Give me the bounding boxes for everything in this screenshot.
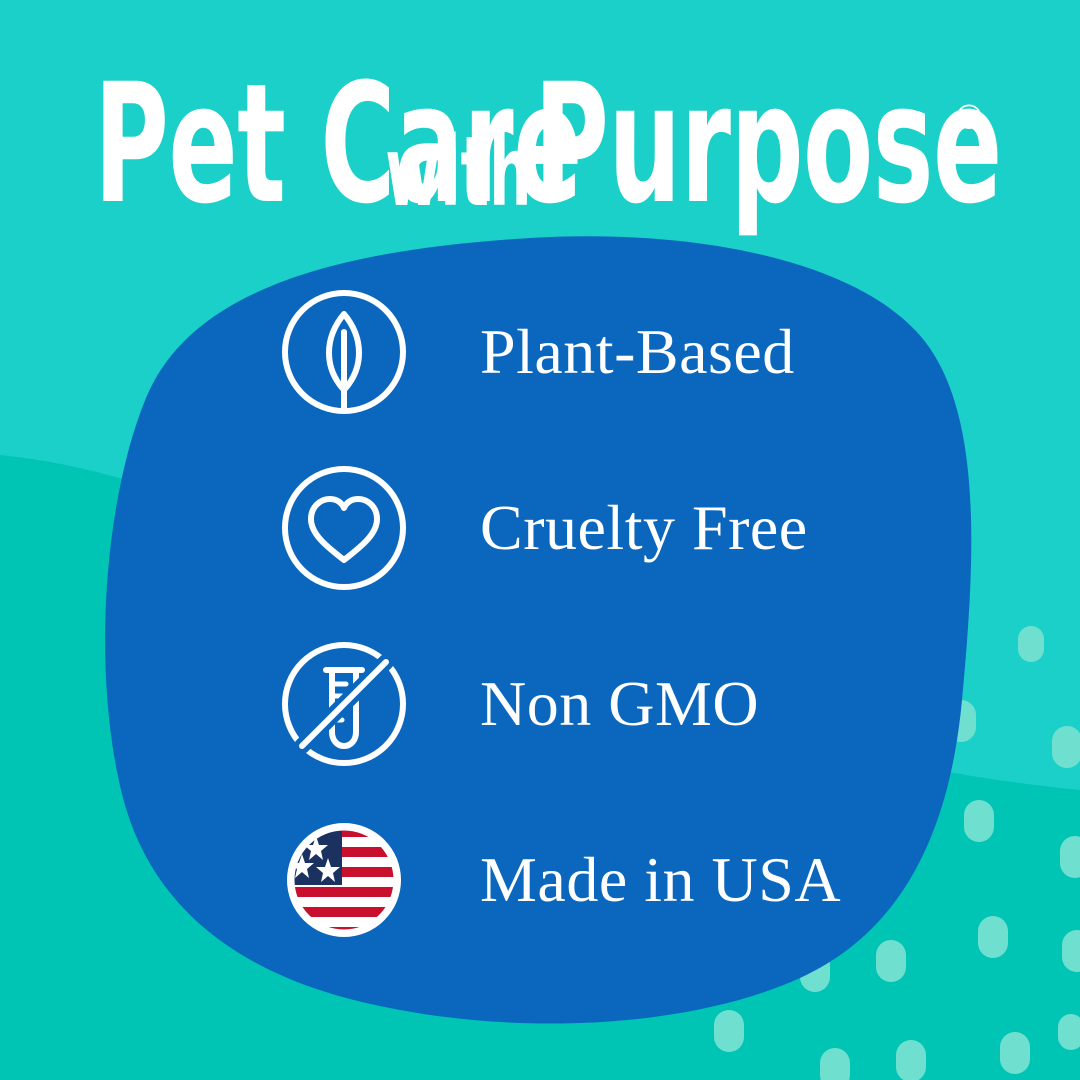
feature-label-non-gmo: Non GMO — [480, 672, 759, 736]
usa-flag-circle-icon — [278, 814, 410, 946]
heart-in-circle-icon — [278, 462, 410, 594]
feature-row-cruelty-free: Cruelty Free — [278, 462, 938, 594]
feature-list: Plant-Based Cruelty Free — [278, 286, 938, 946]
feature-row-non-gmo: Non GMO — [278, 638, 938, 770]
feature-row-plant-based: Plant-Based — [278, 286, 938, 418]
no-gmo-test-tube-icon — [278, 638, 410, 770]
leaf-in-circle-icon — [278, 286, 410, 418]
feature-label-made-in-usa: Made in USA — [480, 848, 841, 912]
feature-row-made-in-usa: Made in USA — [278, 814, 938, 946]
promo-graphic: Pet Care with Purpose ® Plant-Based Crue… — [0, 0, 1080, 1080]
feature-label-plant-based: Plant-Based — [480, 320, 795, 384]
feature-label-cruelty-free: Cruelty Free — [480, 496, 808, 560]
